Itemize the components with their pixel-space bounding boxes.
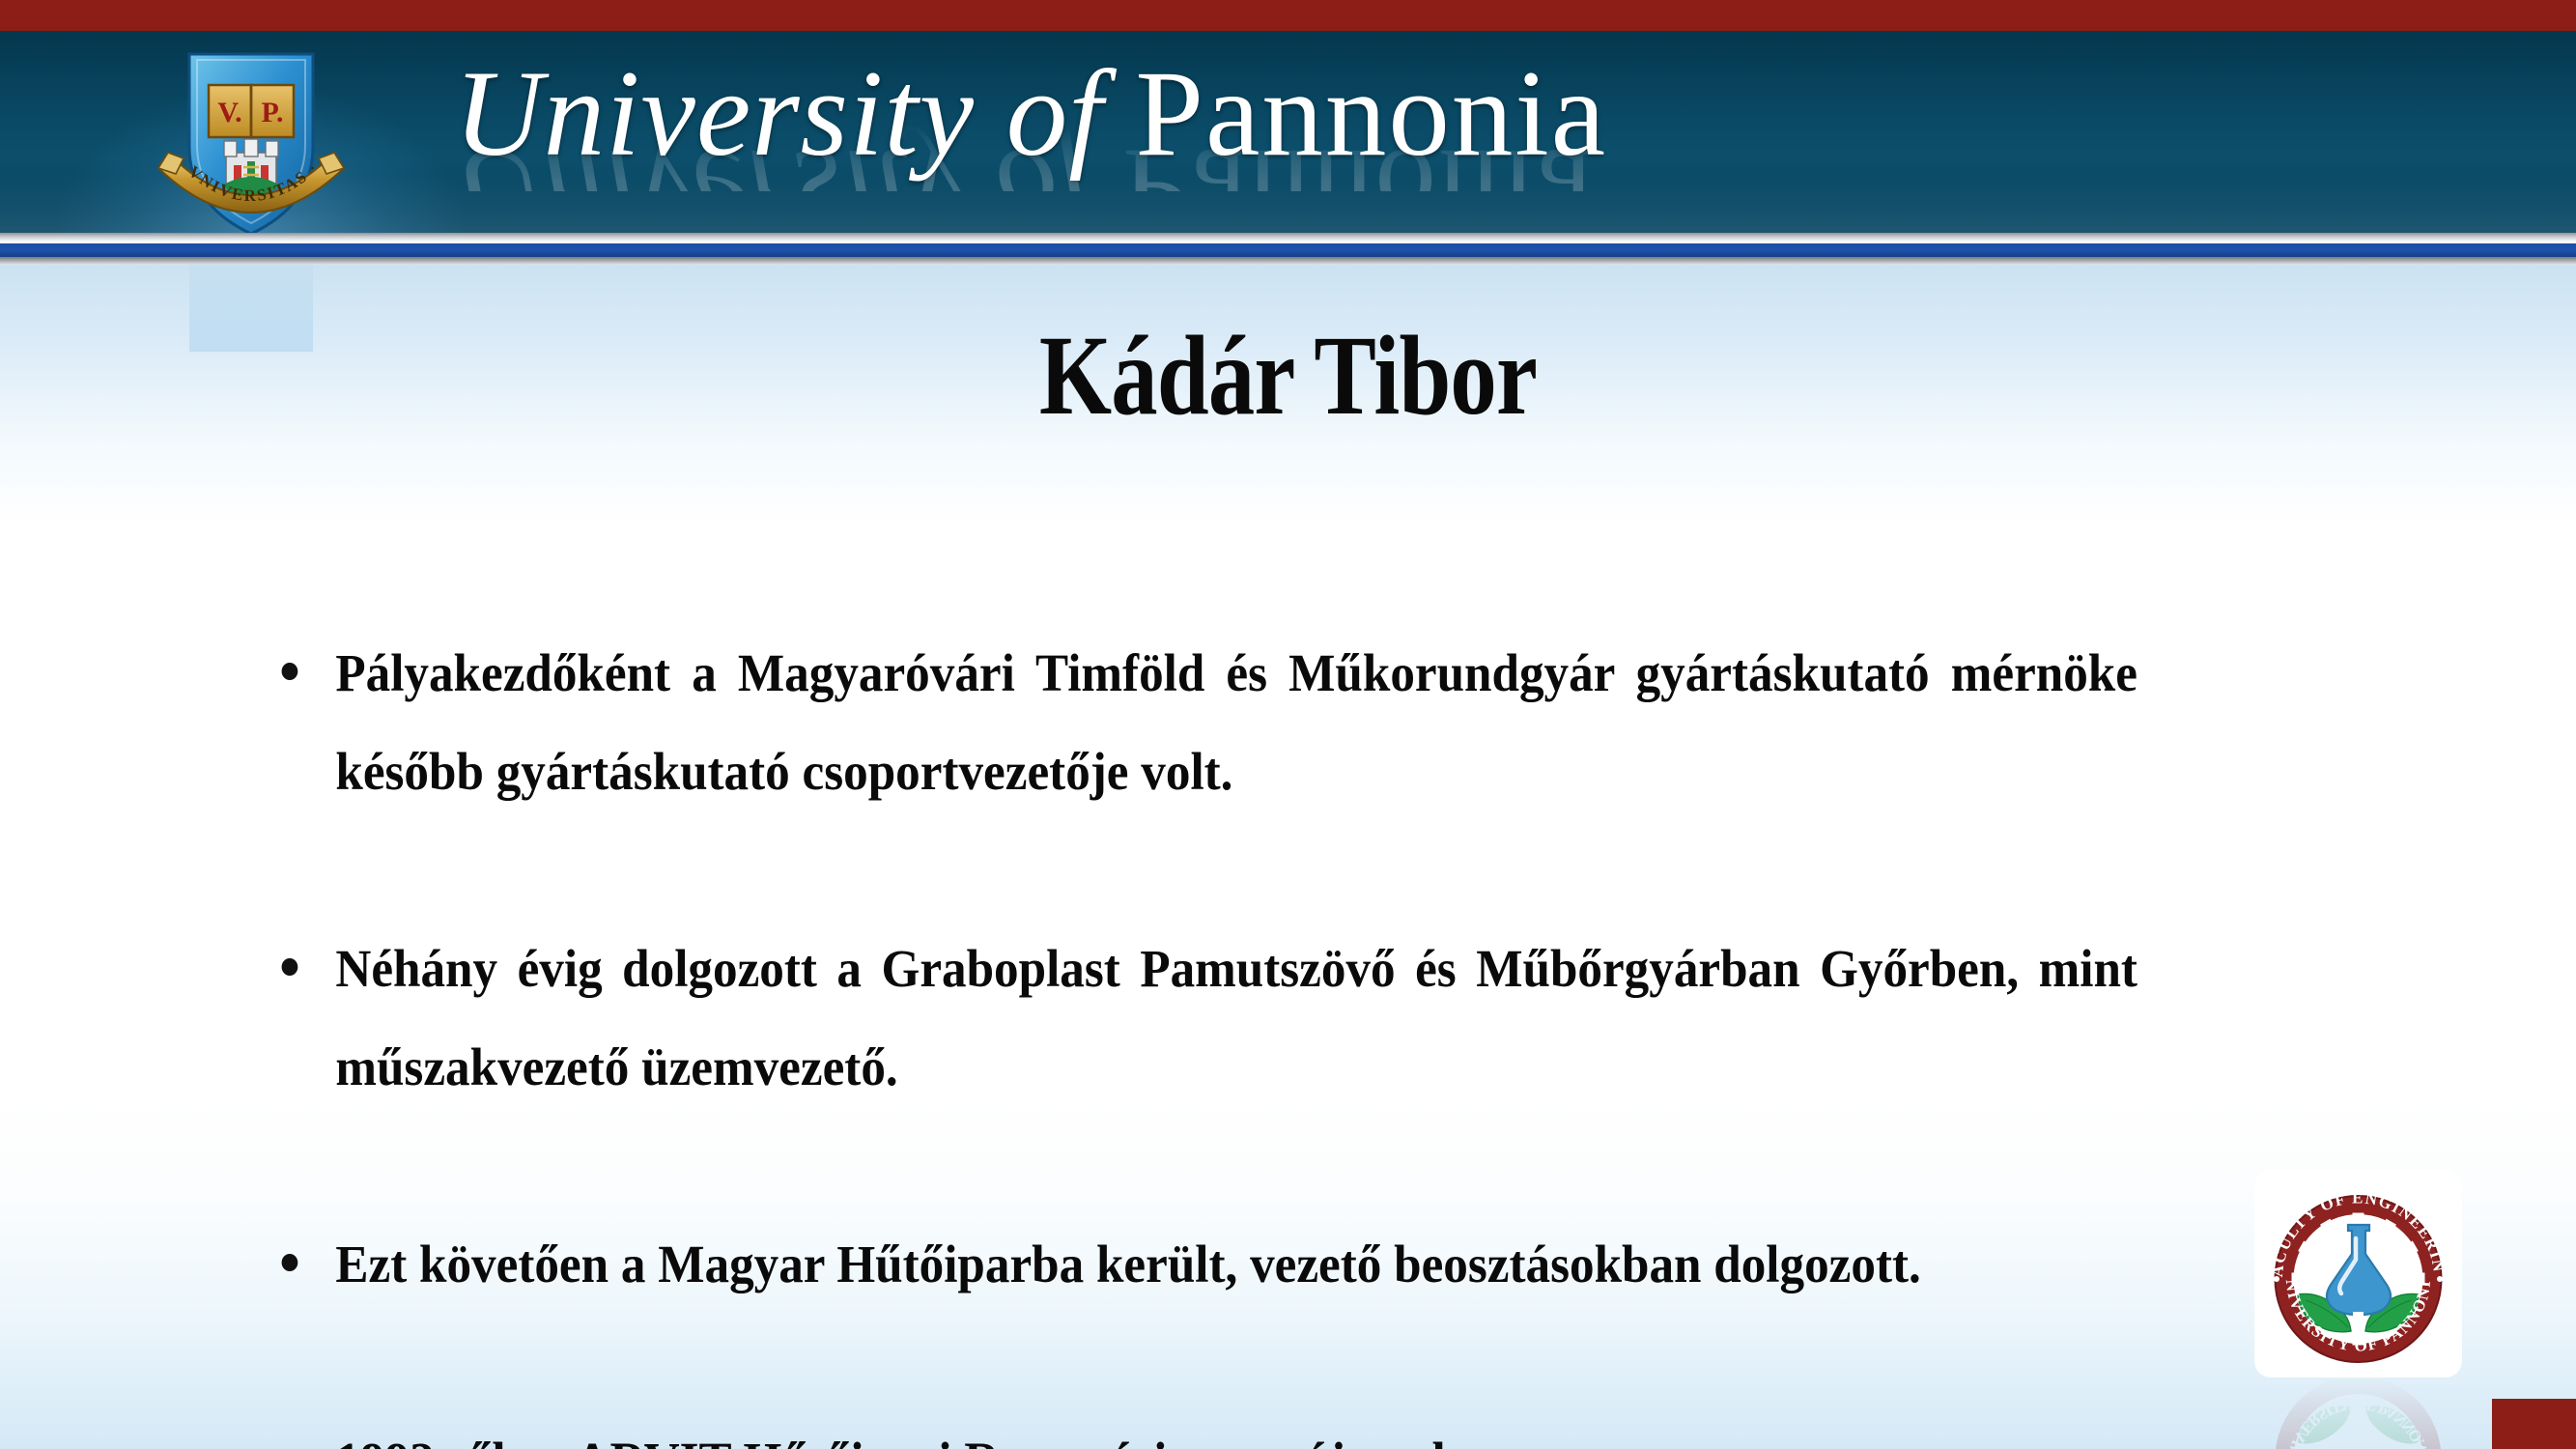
bullet-dot-icon: [282, 958, 298, 976]
list-item-text: Ezt követően a Magyar Hűtőiparba került,…: [335, 1215, 2137, 1314]
bullet-dot-icon: [282, 1254, 298, 1271]
page-title: Kádár Tibor: [232, 319, 2344, 433]
list-item: Pályakezdőként a Magyaróvári Timföld és …: [276, 624, 2137, 821]
wordmark-pannonia: Pannonia: [1135, 46, 1607, 182]
list-item: Néhány évig dolgozott a Graboplast Pamut…: [276, 920, 2137, 1117]
university-wordmark: University of Pannonia: [454, 37, 2193, 191]
header-top-red-bar: [0, 0, 2576, 31]
svg-text:V.: V.: [217, 97, 241, 128]
wordmark-of: of: [1006, 46, 1104, 182]
slide: V. P. VNIVERSITAS · PAN: [0, 0, 2576, 1449]
faculty-of-engineering-seal-icon: FACULTY OF ENGINEERING UNIVERSITY OF PAN…: [2255, 1171, 2461, 1377]
list-item-text: 1992-től az ARVIT Hűtőipari Rt. vezériga…: [335, 1412, 2137, 1449]
university-crest-logo: V. P. VNIVERSITAS · PAN: [155, 39, 348, 241]
crest-icon: V. P. VNIVERSITAS · PAN: [155, 39, 348, 241]
faculty-seal-logo: FACULTY OF ENGINEERING UNIVERSITY OF PAN…: [2255, 1171, 2461, 1377]
svg-text:P.: P.: [261, 97, 283, 128]
header-divider-blue: [0, 243, 2576, 257]
list-item-text: Pályakezdőként a Magyaróvári Timföld és …: [335, 624, 2137, 821]
list-item: 1992-től az ARVIT Hűtőipari Rt. vezériga…: [276, 1412, 2137, 1449]
bullet-dot-icon: [282, 663, 298, 680]
bullet-list: Pályakezdőként a Magyaróvári Timföld és …: [276, 624, 2278, 1449]
list-item: Ezt követően a Magyar Hűtőiparba került,…: [276, 1215, 2137, 1314]
list-item-text: Néhány évig dolgozott a Graboplast Pamut…: [335, 920, 2137, 1117]
wordmark-university: University: [454, 46, 975, 182]
header-divider-grey: [0, 233, 2576, 243]
header-divider-grey-lower: [0, 257, 2576, 265]
bottom-right-red-accent: [2492, 1399, 2576, 1449]
